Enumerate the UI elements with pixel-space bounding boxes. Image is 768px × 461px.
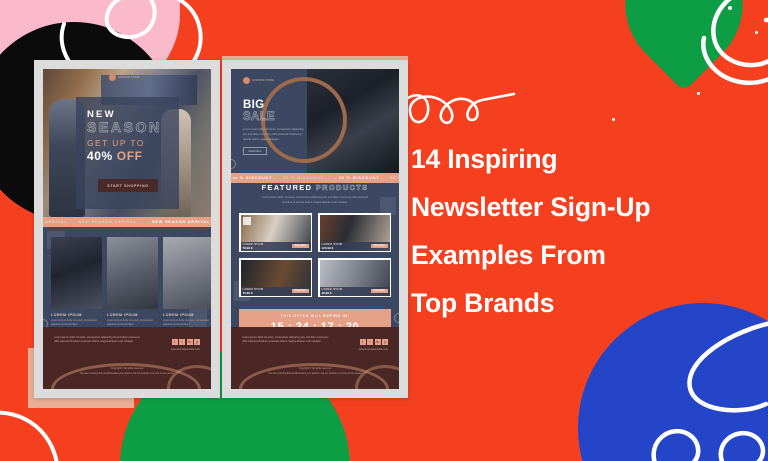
product-image: LOREM IPSUM 120.99 $ Shop Now [320,215,390,251]
product-card[interactable]: LOREM IPSUM Lorem ipsum dolor sit amet, … [163,237,211,333]
newsletter-mockup-right[interactable]: FASHION STORE BIG SALE Lorem ipsum dolor… [222,60,408,398]
footer-social-icons: f t in y [360,339,389,345]
product-info-bar: LOREM IPSUM 120.99 $ Shop Now [320,242,390,251]
countdown-label-strong: EXPIRE IN: [323,314,349,318]
footer-note: You are receiving this email because you… [231,372,399,376]
product-name: LOREM IPSUM [107,313,158,317]
ticker-item-1: ARRIVAL - [45,220,71,224]
linkedin-icon[interactable]: in [375,339,381,345]
product-info-bar: LOREM IPSUM 78.99 $ Shop Now [241,242,311,251]
shop-now-button[interactable]: Shop Now [292,289,308,293]
newsletter-mockups-group: FASHION STORE NEW SEASON GET UP TO 40% O… [24,50,399,402]
left-product-row: LOREM IPSUM Lorem ipsum dolor sit amet, … [51,237,211,333]
featured-title-outline: PRODUCTS [316,183,369,192]
shop-now-button[interactable]: Shop Now [371,244,387,248]
hero-offer-line: GET UP TO [87,138,145,148]
product-name: LOREM IPSUM [51,313,102,317]
product-card[interactable]: LOREM IPSUM Lorem ipsum dolor sit amet, … [51,237,102,333]
right-hero-section: FASHION STORE BIG SALE Lorem ipsum dolor… [231,69,399,173]
footer-legal: Copyright © All rights reserved You are … [231,367,399,376]
left-footer: Lorem ipsum dolor sit amet, consectetur … [43,327,211,389]
left-hero-image: FASHION STORE NEW SEASON GET UP TO 40% O… [43,69,211,217]
product-price: 45.99 $ [322,291,343,295]
hero-outline-word: SEASON [87,119,162,135]
product-card[interactable]: LOREM IPSUM 78.99 $ Shop Now [239,213,312,252]
squiggle-top-right-spiral [684,0,768,96]
left-brand-logo: FASHION STORE [109,74,140,81]
product-info-bar: LOREM IPSUM 70.99 $ Shop Now [241,287,311,296]
squiggle-bottom-left [0,400,72,461]
footer-note: You are receiving this email because you… [43,372,211,376]
product-desc: Lorem ipsum dolor sit amet, consectetur … [163,319,211,327]
shop-now-button[interactable]: Shop Now [292,244,308,248]
featured-title: FEATURED PRODUCTS [231,183,399,192]
product-badge-icon [243,217,251,225]
countdown-label: THIS OFFER WILL EXPIRE IN: [239,314,391,318]
hero-paragraph: Lorem ipsum dolor sit amet, consectetur … [243,127,305,142]
twitter-icon[interactable]: t [367,339,373,345]
ticker-item-1: al % DISCOUNT - [233,176,276,180]
product-desc: Lorem ipsum dolor sit amet, consectetur … [51,319,102,327]
title-line-2: Newsletter Sign-Up [411,183,751,231]
white-dot-2 [755,31,758,34]
title-line-1: 14 Inspiring [411,135,751,183]
twitter-icon[interactable]: t [179,339,185,345]
logo-mark-icon [243,77,250,84]
left-ticker-bar: ARRIVAL - NEW SEASON ARRIVAL - - NEW SEA… [43,217,211,227]
ticker-item-2: 50 % DISCOUNT - [283,176,327,180]
right-brand-logo: FASHION STORE [243,77,274,84]
product-image: LOREM IPSUM 45.99 $ Shop Now [320,260,390,296]
product-info-bar: LOREM IPSUM 45.99 $ Shop Now [320,287,390,296]
ticker-item-3: - NEW SEASON ARRIVAL - [148,220,211,224]
white-dot-4 [612,118,615,121]
right-footer: Lorem ipsum dolor sit amet, consectetur … [231,327,399,389]
discount-value: 40% [87,149,113,163]
shop-now-button[interactable]: Shop Now [371,289,387,293]
discount-word: OFF [117,149,143,163]
footer-legal: Copyright © All rights reserved You are … [43,367,211,376]
green-diamond-shape [596,0,768,92]
product-desc: Lorem ipsum dolor sit amet, consectetur … [107,319,158,327]
hero-title: BIG [243,100,264,112]
header-graphic-canvas: 14 Inspiring Newsletter Sign-Up Examples… [0,0,768,461]
product-image: LOREM IPSUM 70.99 $ Shop Now [241,260,311,296]
featured-title-solid: FEATURED [261,183,312,192]
product-card[interactable]: LOREM IPSUM 45.99 $ Shop Now [318,258,391,297]
logo-mark-icon [109,74,116,81]
product-image: LOREM IPSUM 78.99 $ Shop Now [241,215,311,251]
footer-social-icons: f t in y [172,339,201,345]
newsletter-right-sheet: FASHION STORE BIG SALE Lorem ipsum dolor… [231,69,399,389]
start-shopping-button[interactable]: START SHOPPING [98,179,158,192]
footer-text: Lorem ipsum dolor sit amet, consectetur … [54,336,142,345]
newsletter-left-sheet: FASHION STORE NEW SEASON GET UP TO 40% O… [43,69,211,389]
facebook-icon[interactable]: f [360,339,366,345]
newsletter-mockup-left[interactable]: FASHION STORE NEW SEASON GET UP TO 40% O… [34,60,220,398]
hero-outline-word: SALE [243,112,275,124]
title-line-3: Examples From [411,231,751,279]
title-line-4: Top Brands [411,279,751,327]
linkedin-icon[interactable]: in [187,339,193,345]
product-card[interactable]: LOREM IPSUM 70.99 $ Shop Now [239,258,312,297]
circle-outline-4 [394,313,399,323]
footer-website-url[interactable]: www.loremipsumsite.com [171,348,200,351]
facebook-icon[interactable]: f [172,339,178,345]
hero-discount: 40% OFF [87,149,143,163]
ticker-item-2: NEW SEASON ARRIVAL - [78,220,140,224]
logo-text: FASHION STORE [252,79,274,82]
footer-text: Lorem ipsum dolor sit amet, consectetur … [242,336,330,345]
ticker-item-4: 50 % DISCOUNT [390,176,399,180]
product-image [107,237,158,309]
featured-products-heading: FEATURED PRODUCTS Lorem ipsum dolor sit … [231,183,399,206]
product-name: LOREM IPSUM [163,313,211,317]
white-dot-1 [728,6,732,10]
squiggle-bottom-right [636,316,768,461]
product-price: 120.99 $ [322,246,343,250]
product-price: 78.99 $ [243,246,264,250]
youtube-icon[interactable]: y [194,339,200,345]
product-price: 70.99 $ [243,291,264,295]
logo-text: FASHION STORE [118,76,140,79]
featured-subtitle: Lorem ipsum dolor sit amet, consectetur … [257,196,373,206]
squiggle-title [396,86,516,132]
ticker-item-3: - 50 % DISCOUNT - [335,176,384,180]
product-image [163,237,211,309]
page-title: 14 Inspiring Newsletter Sign-Up Examples… [411,135,751,327]
read-more-button[interactable]: Read More [243,147,267,155]
right-product-grid: LOREM IPSUM 78.99 $ Shop Now LOREM I [239,213,391,297]
countdown-label-prefix: THIS OFFER WILL [281,314,324,318]
left-hero-overlay-card: NEW SEASON GET UP TO 40% OFF START SHOPP… [76,97,179,209]
product-card[interactable]: LOREM IPSUM 120.99 $ Shop Now [318,213,391,252]
right-ticker-bar: al % DISCOUNT - 50 % DISCOUNT - - 50 % D… [231,173,399,183]
footer-website-url[interactable]: www.loremipsumsite.com [359,348,388,351]
white-dot-3 [697,92,700,95]
product-card[interactable]: LOREM IPSUM Lorem ipsum dolor sit amet, … [107,237,158,333]
product-image [51,237,102,309]
youtube-icon[interactable]: y [382,339,388,345]
